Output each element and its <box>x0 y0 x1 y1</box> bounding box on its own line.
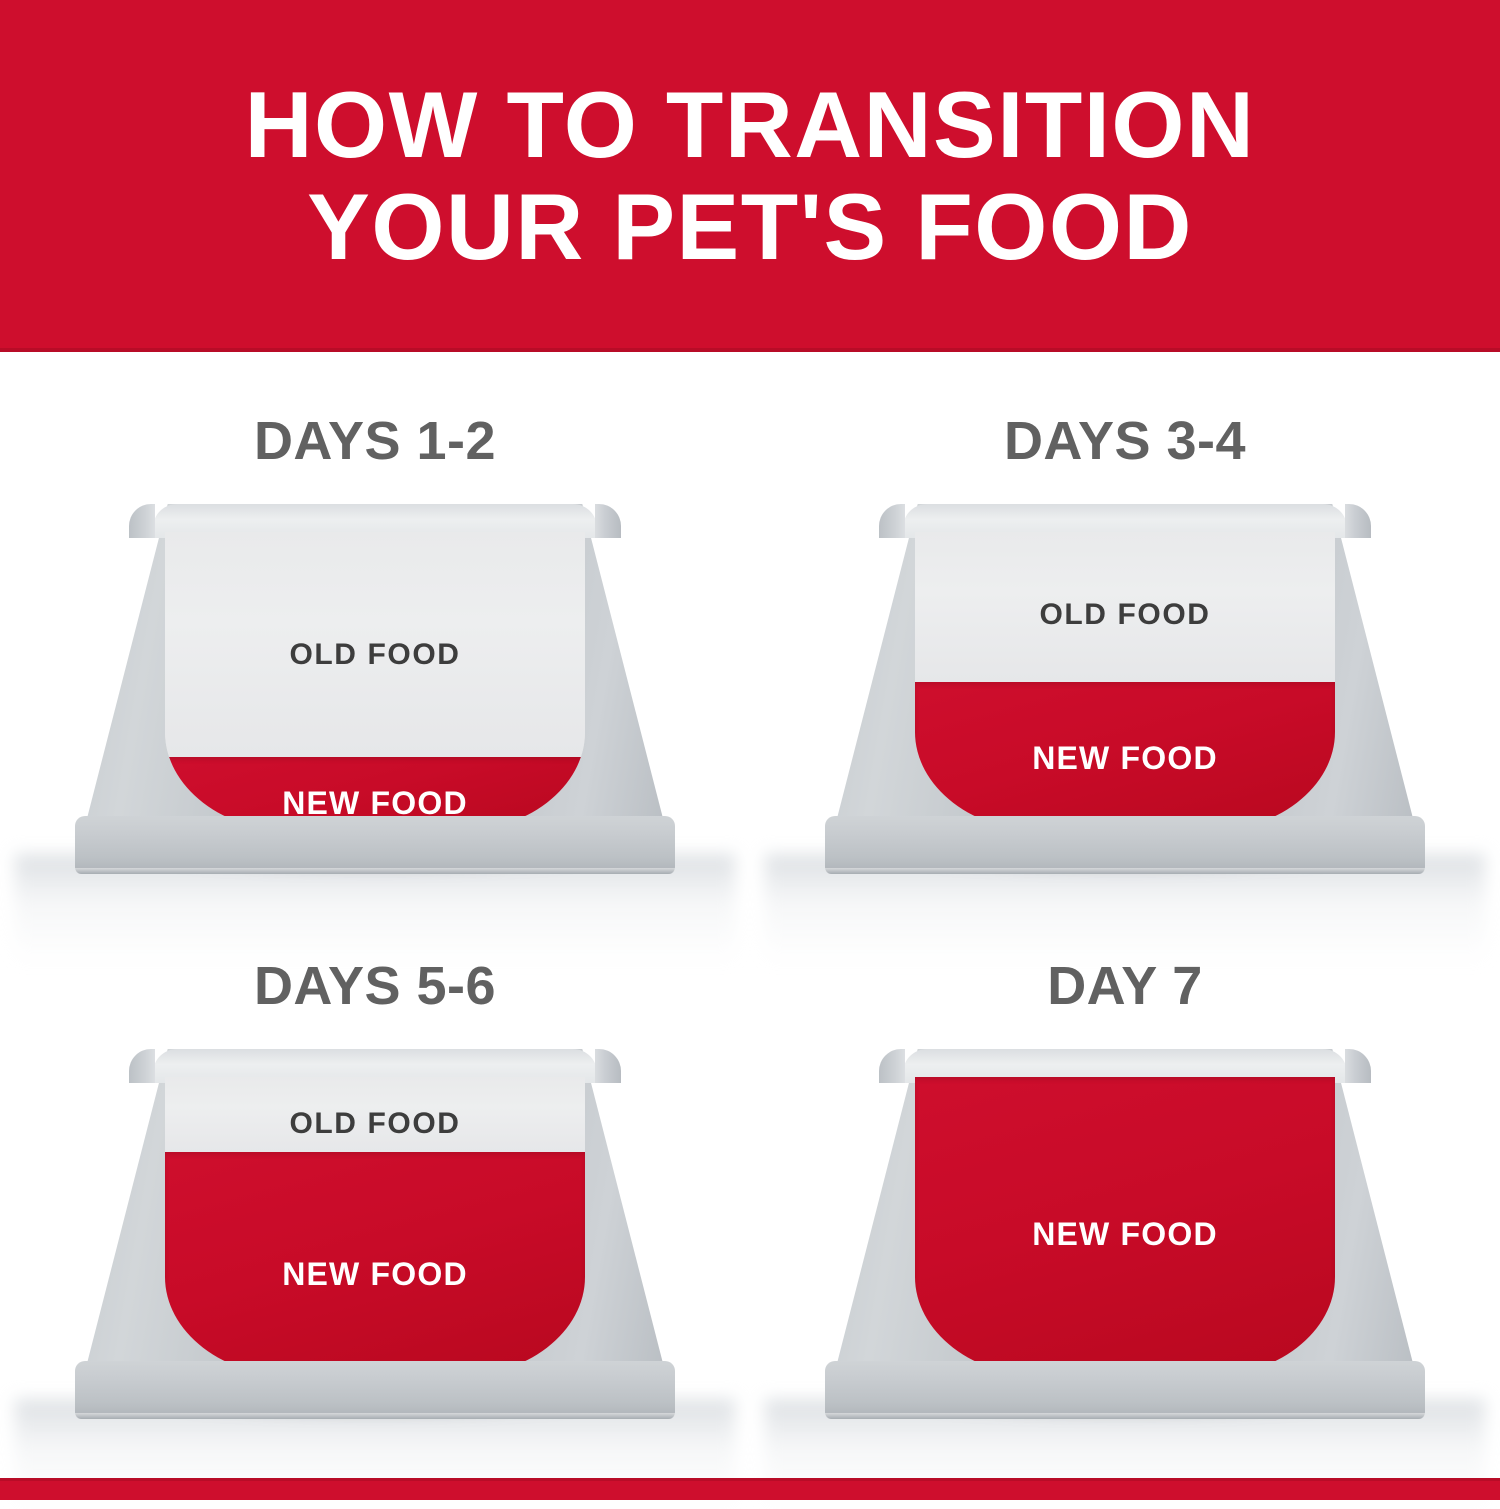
new-food-label: NEW FOOD <box>915 742 1335 774</box>
bowl-interior: OLD FOOD NEW FOOD <box>165 1077 585 1377</box>
bowl-interior: OLD FOOD NEW FOOD <box>915 532 1335 832</box>
old-food-fill: OLD FOOD <box>165 532 585 757</box>
old-food-fill: OLD FOOD <box>165 1077 585 1152</box>
page-title-line-2: YOUR PET'S FOOD <box>307 176 1193 278</box>
new-food-fill: NEW FOOD <box>165 1152 585 1377</box>
step-title: DAYS 3-4 <box>1004 414 1246 468</box>
step-title: DAYS 1-2 <box>254 414 496 468</box>
bowl-interior: OLD FOOD NEW FOOD <box>165 532 585 832</box>
new-food-fill: NEW FOOD <box>915 682 1335 832</box>
bowl-interior: OLD FOOD NEW FOOD <box>915 1077 1335 1377</box>
page-title-line-1: HOW TO TRANSITION <box>245 74 1256 176</box>
bowl-base <box>75 1361 675 1419</box>
food-bowl-days-3-4: OLD FOOD NEW FOOD <box>825 504 1425 894</box>
step-title: DAYS 5-6 <box>254 959 496 1013</box>
footer-red-strip <box>0 1478 1500 1500</box>
bowl-base <box>825 816 1425 874</box>
bowl-base <box>75 816 675 874</box>
food-bowl-days-5-6: OLD FOOD NEW FOOD <box>75 1049 675 1439</box>
new-food-label: NEW FOOD <box>165 787 585 819</box>
step-card-day-7: DAY 7 OLD FOOD NEW FOOD <box>750 897 1500 1442</box>
new-food-fill: NEW FOOD <box>915 1077 1335 1377</box>
header-banner: HOW TO TRANSITION YOUR PET'S FOOD <box>0 0 1500 352</box>
new-food-label: NEW FOOD <box>915 1218 1335 1250</box>
old-food-fill: OLD FOOD <box>915 532 1335 682</box>
transition-steps-grid: DAYS 1-2 OLD FOOD NEW FOOD DAYS 3-4 <box>0 352 1500 1478</box>
step-card-days-1-2: DAYS 1-2 OLD FOOD NEW FOOD <box>0 352 750 897</box>
food-bowl-day-7: OLD FOOD NEW FOOD <box>825 1049 1425 1439</box>
step-card-days-5-6: DAYS 5-6 OLD FOOD NEW FOOD <box>0 897 750 1442</box>
bowl-base <box>825 1361 1425 1419</box>
old-food-label: OLD FOOD <box>165 1109 585 1139</box>
new-food-label: NEW FOOD <box>165 1258 585 1290</box>
food-bowl-days-1-2: OLD FOOD NEW FOOD <box>75 504 675 894</box>
old-food-label: OLD FOOD <box>915 600 1335 630</box>
old-food-label: OLD FOOD <box>165 640 585 670</box>
step-title: DAY 7 <box>1047 959 1203 1013</box>
step-card-days-3-4: DAYS 3-4 OLD FOOD NEW FOOD <box>750 352 1500 897</box>
